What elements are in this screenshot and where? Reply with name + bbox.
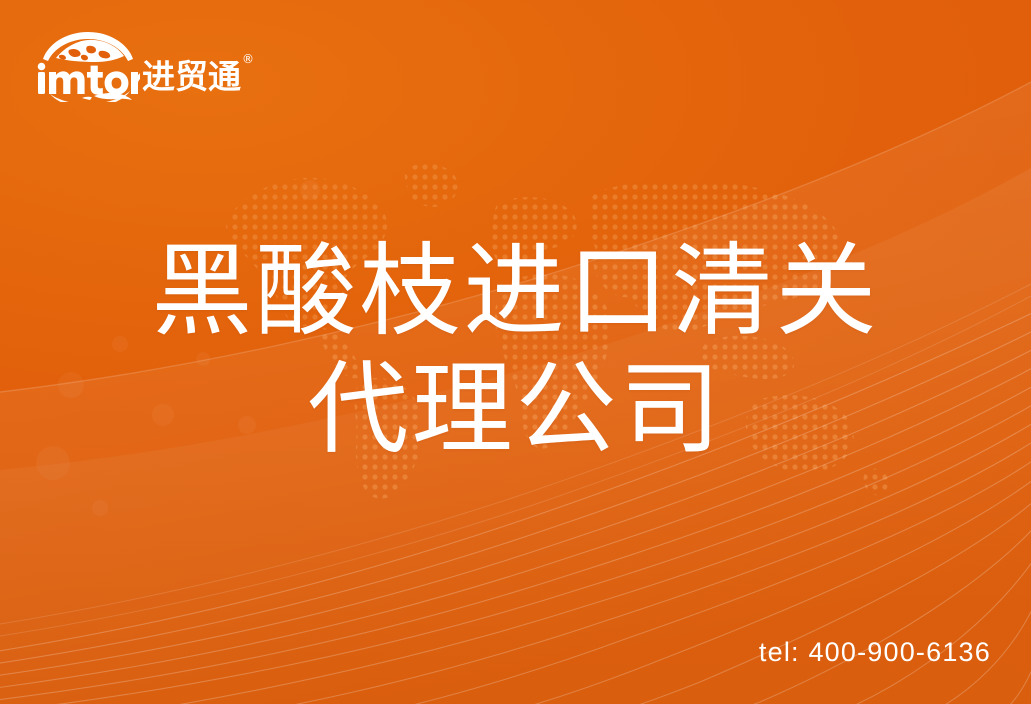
logo-chinese-text: 进贸通 — [142, 57, 241, 96]
headline: 黑酸枝进口清关 代理公司 — [0, 232, 1031, 468]
decor-bubble — [238, 416, 256, 434]
decor-bubble — [152, 404, 174, 426]
decor-bubble — [300, 180, 320, 200]
headline-line-2: 代理公司 — [0, 350, 1031, 468]
decor-bubble — [36, 446, 70, 480]
wave-decoration — [0, 0, 1031, 704]
logo-chinese-name: 进贸通 ® — [142, 60, 241, 93]
decor-bubble — [58, 372, 84, 398]
registered-trademark-icon: ® — [242, 53, 254, 65]
world-map-dots — [200, 132, 900, 512]
logo[interactable]: 进贸通 ® — [36, 28, 241, 102]
globe-arc-world-map-icon — [36, 28, 140, 102]
decor-bubble — [112, 336, 128, 352]
banner-canvas: 进贸通 ® 黑酸枝进口清关 代理公司 tel: 400-900-6136 — [0, 0, 1031, 704]
decor-bubble — [92, 500, 108, 516]
decor-bubble — [196, 352, 210, 366]
contact-phone[interactable]: tel: 400-900-6136 — [759, 639, 991, 666]
headline-line-1: 黑酸枝进口清关 — [0, 232, 1031, 350]
